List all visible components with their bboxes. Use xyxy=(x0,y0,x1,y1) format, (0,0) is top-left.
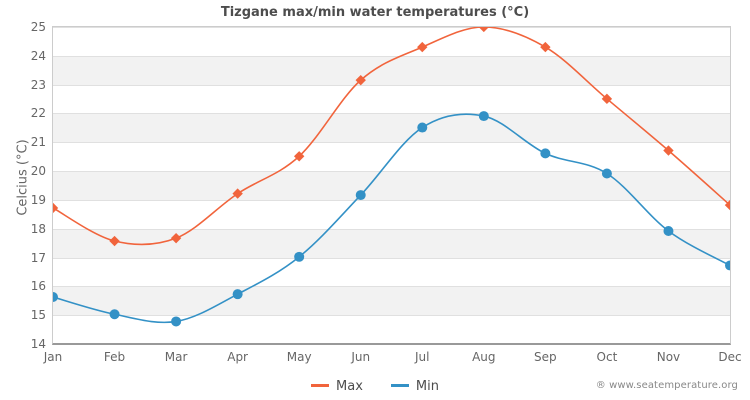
data-point-min-nov[interactable] xyxy=(663,226,673,236)
series-line-min xyxy=(53,114,730,322)
data-point-min-apr[interactable] xyxy=(233,289,243,299)
plot-area xyxy=(52,26,731,345)
x-axis-tick-labels: JanFebMarAprMayJunJulAugSepOctNovDec xyxy=(52,351,731,367)
y-axis-tick: 19 xyxy=(6,194,46,206)
x-axis-tick: Apr xyxy=(208,351,268,363)
y-axis-tick-labels: 141516171819202122232425 xyxy=(0,26,46,345)
legend-item-max[interactable]: Max xyxy=(311,379,363,394)
series-lines-and-markers xyxy=(53,27,730,343)
x-axis-tick: Nov xyxy=(638,351,698,363)
y-axis-tick: 23 xyxy=(6,79,46,91)
y-axis-tick: 18 xyxy=(6,223,46,235)
water-temperature-chart: Tizgane max/min water temperatures (°C) … xyxy=(0,0,750,400)
x-axis-tick: Jun xyxy=(331,351,391,363)
legend-label: Max xyxy=(336,379,363,394)
data-point-min-sep[interactable] xyxy=(540,148,550,158)
data-point-min-jan[interactable] xyxy=(52,292,58,302)
legend-item-min[interactable]: Min xyxy=(391,379,439,394)
credit-text: ® www.seatemperature.org xyxy=(596,380,738,391)
y-axis-tick: 20 xyxy=(6,165,46,177)
x-axis-tick: Aug xyxy=(454,351,514,363)
y-axis-tick: 15 xyxy=(6,309,46,321)
data-point-min-oct[interactable] xyxy=(602,169,612,179)
x-axis-tick: Jan xyxy=(23,351,83,363)
data-point-min-jul[interactable] xyxy=(417,123,427,133)
x-axis-tick: Mar xyxy=(146,351,206,363)
data-point-min-mar[interactable] xyxy=(171,316,181,326)
data-point-max-sep[interactable] xyxy=(540,42,550,52)
data-point-max-feb[interactable] xyxy=(109,236,119,246)
x-axis-tick: Dec xyxy=(700,351,750,363)
y-axis-tick: 22 xyxy=(6,107,46,119)
data-point-min-feb[interactable] xyxy=(110,309,120,319)
y-axis-tick: 16 xyxy=(6,280,46,292)
data-point-max-aug[interactable] xyxy=(479,26,489,32)
x-axis-tick: Oct xyxy=(577,351,637,363)
data-point-min-jun[interactable] xyxy=(356,190,366,200)
y-axis-tick: 14 xyxy=(6,338,46,350)
legend-swatch-max-icon xyxy=(311,384,329,387)
legend-swatch-min-icon xyxy=(391,384,409,387)
data-point-min-may[interactable] xyxy=(294,252,304,262)
data-point-min-aug[interactable] xyxy=(479,111,489,121)
data-point-max-jan[interactable] xyxy=(52,203,58,213)
x-axis-tick: May xyxy=(269,351,329,363)
x-axis-tick: Feb xyxy=(85,351,145,363)
chart-title: Tizgane max/min water temperatures (°C) xyxy=(0,5,750,20)
series-line-max xyxy=(53,27,730,244)
y-axis-tick: 17 xyxy=(6,252,46,264)
y-axis-tick: 21 xyxy=(6,136,46,148)
y-axis-tick: 25 xyxy=(6,21,46,33)
data-point-max-mar[interactable] xyxy=(171,233,181,243)
data-point-min-dec[interactable] xyxy=(725,260,731,270)
y-axis-tick: 24 xyxy=(6,50,46,62)
legend-label: Min xyxy=(416,379,439,394)
x-axis-tick: Sep xyxy=(515,351,575,363)
x-axis-tick: Jul xyxy=(392,351,452,363)
data-point-max-jul[interactable] xyxy=(417,42,427,52)
data-point-max-apr[interactable] xyxy=(232,188,242,198)
